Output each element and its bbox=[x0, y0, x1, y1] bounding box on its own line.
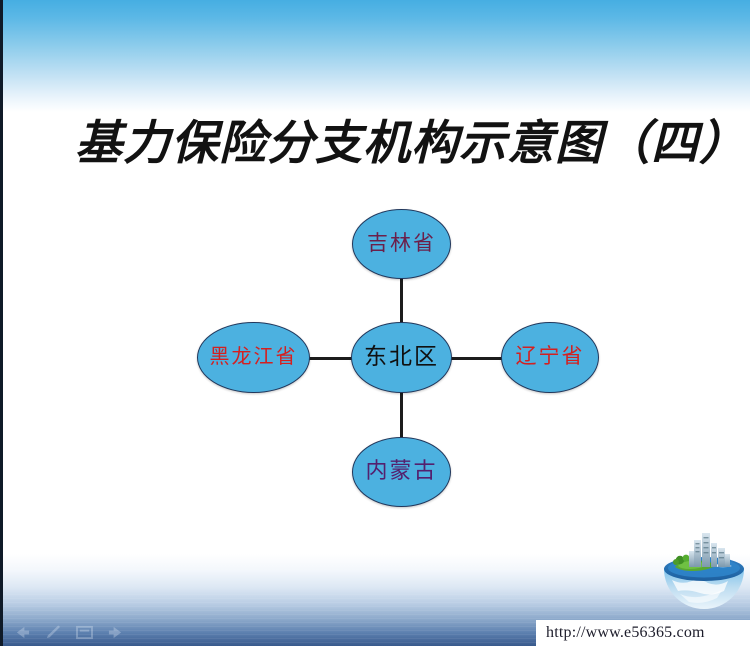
node-northeast-region[interactable]: 东北区 bbox=[351, 322, 452, 393]
globe-city-logo bbox=[658, 524, 750, 616]
connector-center-right bbox=[444, 357, 502, 360]
node-jilin[interactable]: 吉林省 bbox=[352, 209, 451, 279]
node-liaoning-label: 辽宁省 bbox=[516, 346, 585, 367]
node-jilin-label: 吉林省 bbox=[367, 233, 436, 254]
node-inner-mongolia-label: 内蒙古 bbox=[365, 460, 437, 482]
next-slide-icon[interactable] bbox=[106, 625, 125, 640]
slide-menu-icon[interactable] bbox=[75, 625, 94, 640]
node-liaoning[interactable]: 辽宁省 bbox=[501, 322, 599, 393]
previous-slide-icon[interactable] bbox=[13, 625, 32, 640]
watermark-url-box: http://www.e56365.com bbox=[536, 620, 750, 646]
slideshow-nav-bar[interactable] bbox=[13, 625, 125, 640]
node-heilongjiang[interactable]: 黑龙江省 bbox=[197, 322, 310, 393]
org-chart-diagram: 吉林省 黑龙江省 东北区 辽宁省 内蒙古 bbox=[3, 0, 750, 646]
presentation-slide: 基力保险分支机构示意图（四） 吉林省 黑龙江省 东北区 辽宁省 内蒙古 bbox=[0, 0, 750, 646]
connector-center-bottom bbox=[400, 386, 403, 442]
node-inner-mongolia[interactable]: 内蒙古 bbox=[352, 437, 451, 507]
node-northeast-region-label: 东北区 bbox=[364, 345, 439, 368]
pen-icon[interactable] bbox=[44, 625, 63, 640]
node-heilongjiang-label: 黑龙江省 bbox=[210, 347, 298, 367]
watermark-url: http://www.e56365.com bbox=[536, 624, 705, 642]
